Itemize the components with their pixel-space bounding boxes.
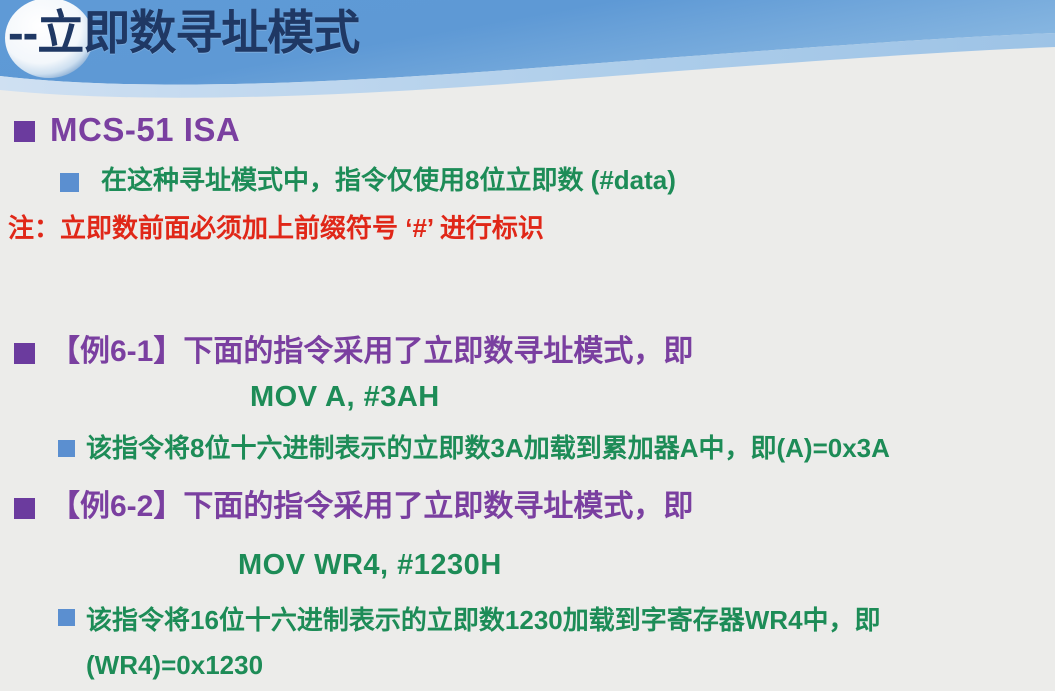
- example1-prompt-row: 【例6-1】下面的指令采用了立即数寻址模式，即: [14, 331, 693, 373]
- square-bullet-icon: [14, 498, 35, 519]
- square-bullet-icon: [14, 121, 35, 142]
- bullet-heading-mcs51: MCS-51 ISA: [14, 108, 240, 152]
- example2-explanation-row: 该指令将16位十六进制表示的立即数1230加载到字寄存器WR4中，即(WR4)=…: [58, 598, 1053, 688]
- slide: --立即数寻址模式 MCS-51 ISA 在这种寻址模式中，指令仅使用8位立即数…: [0, 0, 1055, 691]
- slide-header: --立即数寻址模式: [0, 0, 1055, 104]
- square-bullet-icon: [58, 440, 75, 457]
- example2-prompt-row: 【例6-2】下面的指令采用了立即数寻址模式，即: [14, 486, 693, 528]
- slide-body: MCS-51 ISA 在这种寻址模式中，指令仅使用8位立即数 (#data) 注…: [0, 104, 1055, 691]
- subpoint-label: 在这种寻址模式中，指令仅使用8位立即数 (#data): [101, 161, 676, 199]
- note-label: 注：立即数前面必须加上前缀符号 ‘#’ 进行标识: [8, 209, 544, 247]
- example2-prompt-label: 【例6-2】下面的指令采用了立即数寻址模式，即: [50, 486, 693, 528]
- square-bullet-icon: [60, 173, 79, 192]
- example1-prompt-label: 【例6-1】下面的指令采用了立即数寻址模式，即: [50, 331, 693, 373]
- heading-label: MCS-51 ISA: [50, 108, 240, 152]
- example2-explanation-label: 该指令将16位十六进制表示的立即数1230加载到字寄存器WR4中，即(WR4)=…: [86, 598, 1053, 688]
- example2-code-label: MOV WR4, #1230H: [238, 544, 502, 586]
- example1-explanation-label: 该指令将8位十六进制表示的立即数3A加载到累加器A中，即(A)=0x3A: [86, 429, 890, 467]
- example1-code-label: MOV A, #3AH: [250, 376, 440, 418]
- square-bullet-icon: [58, 609, 75, 626]
- bullet-subpoint-addressing-mode: 在这种寻址模式中，指令仅使用8位立即数 (#data): [60, 161, 676, 199]
- example1-explanation-row: 该指令将8位十六进制表示的立即数3A加载到累加器A中，即(A)=0x3A: [58, 429, 890, 467]
- example2-code-row: MOV WR4, #1230H: [238, 544, 502, 586]
- example1-code-row: MOV A, #3AH: [250, 376, 440, 418]
- page-title: --立即数寻址模式: [8, 2, 359, 64]
- square-bullet-icon: [14, 343, 35, 364]
- note-line: 注：立即数前面必须加上前缀符号 ‘#’ 进行标识: [8, 209, 544, 247]
